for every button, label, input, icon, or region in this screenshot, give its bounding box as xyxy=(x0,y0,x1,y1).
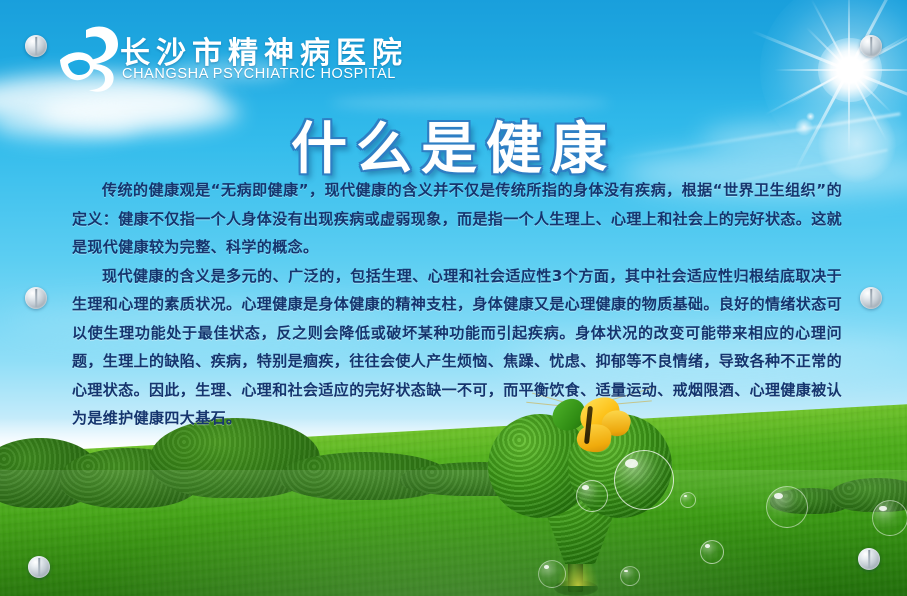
screw-icon xyxy=(25,35,47,57)
soap-bubble-icon xyxy=(872,500,907,536)
body-copy: 传统的健康观是“无病即健康”，现代健康的含义并不仅是传统所指的身体没有疾病，根据… xyxy=(72,176,842,433)
page-title: 什么是健康 xyxy=(0,104,907,185)
health-poster: 长沙市精神病医院 CHANGSHA PSYCHIATRIC HOSPITAL 什… xyxy=(0,0,907,596)
paragraph-1: 传统的健康观是“无病即健康”，现代健康的含义并不仅是传统所指的身体没有疾病，根据… xyxy=(72,176,842,262)
soap-bubble-icon xyxy=(700,540,724,564)
screw-icon xyxy=(860,35,882,57)
soap-bubble-icon xyxy=(620,566,640,586)
soap-bubble-icon xyxy=(614,450,674,510)
soap-bubble-icon xyxy=(576,480,608,512)
screw-icon xyxy=(860,287,882,309)
soap-bubble-icon xyxy=(680,492,696,508)
soap-bubble-icon xyxy=(538,560,566,588)
screw-icon xyxy=(25,287,47,309)
paragraph-2: 现代健康的含义是多元的、广泛的，包括生理、心理和社会适应性3个方面，其中社会适应… xyxy=(72,262,842,433)
brand-name-english: CHANGSHA PSYCHIATRIC HOSPITAL xyxy=(122,66,396,82)
screw-icon xyxy=(28,556,50,578)
soap-bubble-icon xyxy=(766,486,808,528)
swan-lotus-logo-icon xyxy=(56,24,128,94)
screw-icon xyxy=(858,548,880,570)
